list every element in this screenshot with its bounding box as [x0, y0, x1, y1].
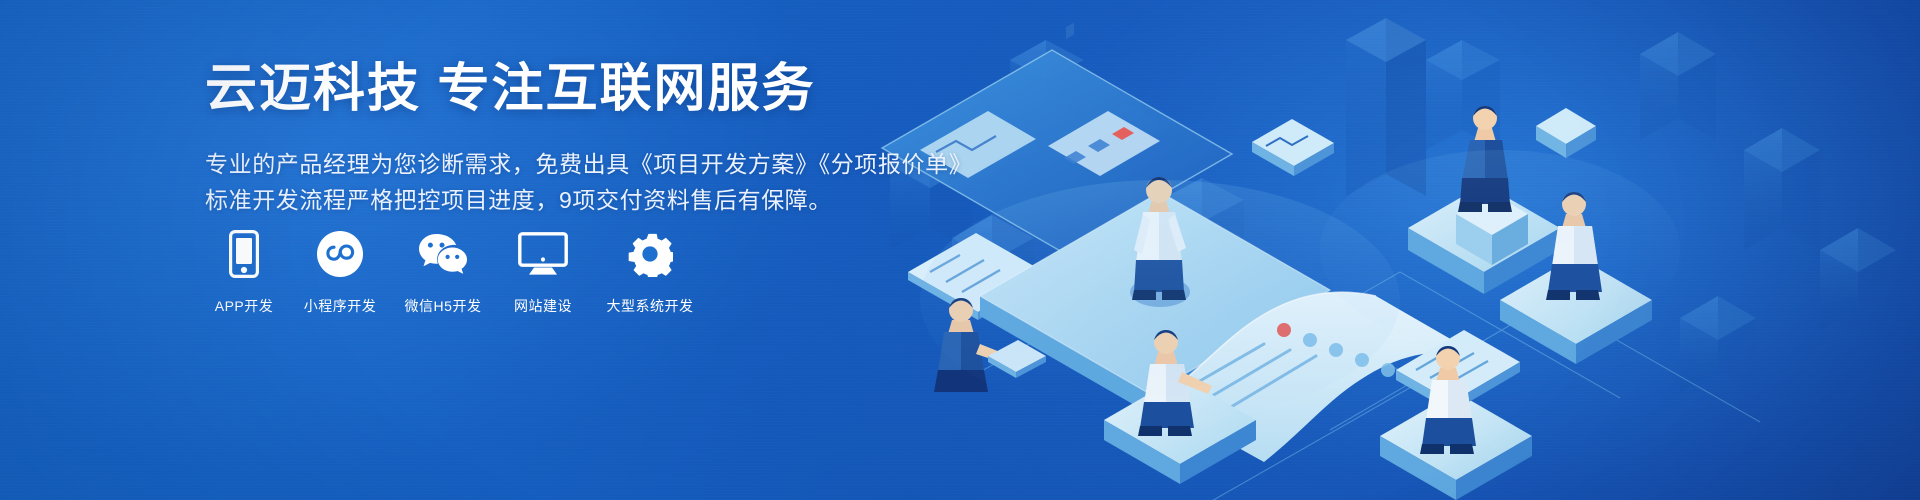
floating-chart-card: [1252, 119, 1334, 176]
monitor-icon: [518, 228, 568, 280]
service-item-large-system[interactable]: 大型系统开发: [597, 228, 703, 316]
service-label: 大型系统开发: [607, 296, 694, 316]
hero-banner: 云迈科技 专注互联网服务 专业的产品经理为您诊断需求，免费出具《项目开发方案》《…: [0, 0, 1920, 500]
service-label: APP开发: [215, 296, 274, 316]
service-item-app[interactable]: APP开发: [205, 228, 283, 316]
mobile-phone-icon: [229, 228, 259, 280]
service-label: 微信H5开发: [405, 296, 482, 316]
service-label: 网站建设: [514, 296, 572, 316]
mini-program-icon: [317, 228, 363, 280]
service-item-website[interactable]: 网站建设: [503, 228, 583, 316]
banner-copy: 云迈科技 专注互联网服务 专业的产品经理为您诊断需求，免费出具《项目开发方案》《…: [205, 60, 965, 218]
gear-icon: [627, 228, 673, 280]
service-item-wechat-h5[interactable]: 微信H5开发: [397, 228, 489, 316]
service-list: APP开发 小程序开发 微信: [205, 228, 703, 316]
badge-tag: [1536, 108, 1596, 158]
page-title: 云迈科技 专注互联网服务: [205, 60, 965, 120]
subtitle-line-2: 标准开发流程严格把控项目进度，9项交付资料售后有保障。: [205, 182, 965, 218]
service-label: 小程序开发: [304, 296, 377, 316]
isometric-illustration: [860, 0, 1920, 500]
wechat-icon: [417, 228, 469, 280]
service-item-mini-program[interactable]: 小程序开发: [297, 228, 383, 316]
subtitle-line-1: 专业的产品经理为您诊断需求，免费出具《项目开发方案》《分项报价单》: [205, 146, 965, 182]
